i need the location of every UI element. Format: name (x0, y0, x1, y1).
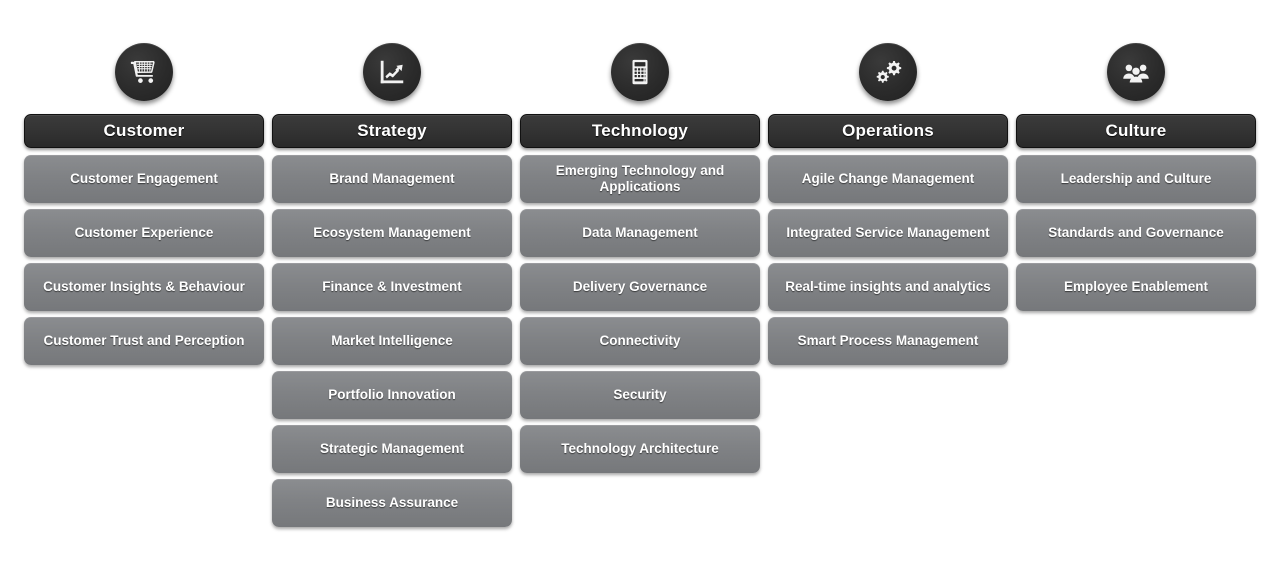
column-header-strategy[interactable]: Strategy (272, 114, 512, 148)
cell-customer-trust-perception[interactable]: Customer Trust and Perception (24, 317, 264, 365)
gears-icon (859, 43, 917, 101)
cell-data-management[interactable]: Data Management (520, 209, 760, 257)
cell-employee-enablement[interactable]: Employee Enablement (1016, 263, 1256, 311)
cell-connectivity[interactable]: Connectivity (520, 317, 760, 365)
cells-culture: Leadership and Culture Standards and Gov… (1016, 155, 1256, 311)
growth-chart-icon (363, 43, 421, 101)
cell-security[interactable]: Security (520, 371, 760, 419)
cell-brand-management[interactable]: Brand Management (272, 155, 512, 203)
column-culture: Culture Leadership and Culture Standards… (1016, 30, 1256, 311)
cell-delivery-governance[interactable]: Delivery Governance (520, 263, 760, 311)
column-strategy: Strategy Brand Management Ecosystem Mana… (272, 30, 512, 527)
column-header-operations[interactable]: Operations (768, 114, 1008, 148)
cell-agile-change-management[interactable]: Agile Change Management (768, 155, 1008, 203)
cell-customer-insights-behaviour[interactable]: Customer Insights & Behaviour (24, 263, 264, 311)
cells-strategy: Brand Management Ecosystem Management Fi… (272, 155, 512, 527)
cell-leadership-and-culture[interactable]: Leadership and Culture (1016, 155, 1256, 203)
icon-wrap-operations (768, 30, 1008, 114)
cell-customer-experience[interactable]: Customer Experience (24, 209, 264, 257)
cells-technology: Emerging Technology and Applications Dat… (520, 155, 760, 473)
cells-operations: Agile Change Management Integrated Servi… (768, 155, 1008, 365)
columns-container: Customer Customer Engagement Customer Ex… (24, 30, 1258, 527)
column-header-culture[interactable]: Culture (1016, 114, 1256, 148)
cell-standards-and-governance[interactable]: Standards and Governance (1016, 209, 1256, 257)
column-header-technology[interactable]: Technology (520, 114, 760, 148)
cell-portfolio-innovation[interactable]: Portfolio Innovation (272, 371, 512, 419)
cell-market-intelligence[interactable]: Market Intelligence (272, 317, 512, 365)
cell-finance-investment[interactable]: Finance & Investment (272, 263, 512, 311)
column-operations: Operations Agile Change Management Integ… (768, 30, 1008, 365)
icon-wrap-technology (520, 30, 760, 114)
people-group-icon (1107, 43, 1165, 101)
cell-smart-process-management[interactable]: Smart Process Management (768, 317, 1008, 365)
calculator-icon (611, 43, 669, 101)
cell-realtime-insights-analytics[interactable]: Real-time insights and analytics (768, 263, 1008, 311)
column-technology: Technology Emerging Technology and Appli… (520, 30, 760, 473)
cell-business-assurance[interactable]: Business Assurance (272, 479, 512, 527)
capability-model-diagram: Customer Customer Engagement Customer Ex… (0, 0, 1280, 584)
cell-strategic-management[interactable]: Strategic Management (272, 425, 512, 473)
cell-integrated-service-management[interactable]: Integrated Service Management (768, 209, 1008, 257)
icon-wrap-customer (24, 30, 264, 114)
cells-customer: Customer Engagement Customer Experience … (24, 155, 264, 365)
cell-emerging-technology-applications[interactable]: Emerging Technology and Applications (520, 155, 760, 203)
cell-ecosystem-management[interactable]: Ecosystem Management (272, 209, 512, 257)
shopping-cart-icon (115, 43, 173, 101)
icon-wrap-strategy (272, 30, 512, 114)
column-header-customer[interactable]: Customer (24, 114, 264, 148)
cell-technology-architecture[interactable]: Technology Architecture (520, 425, 760, 473)
cell-customer-engagement[interactable]: Customer Engagement (24, 155, 264, 203)
column-customer: Customer Customer Engagement Customer Ex… (24, 30, 264, 365)
icon-wrap-culture (1016, 30, 1256, 114)
